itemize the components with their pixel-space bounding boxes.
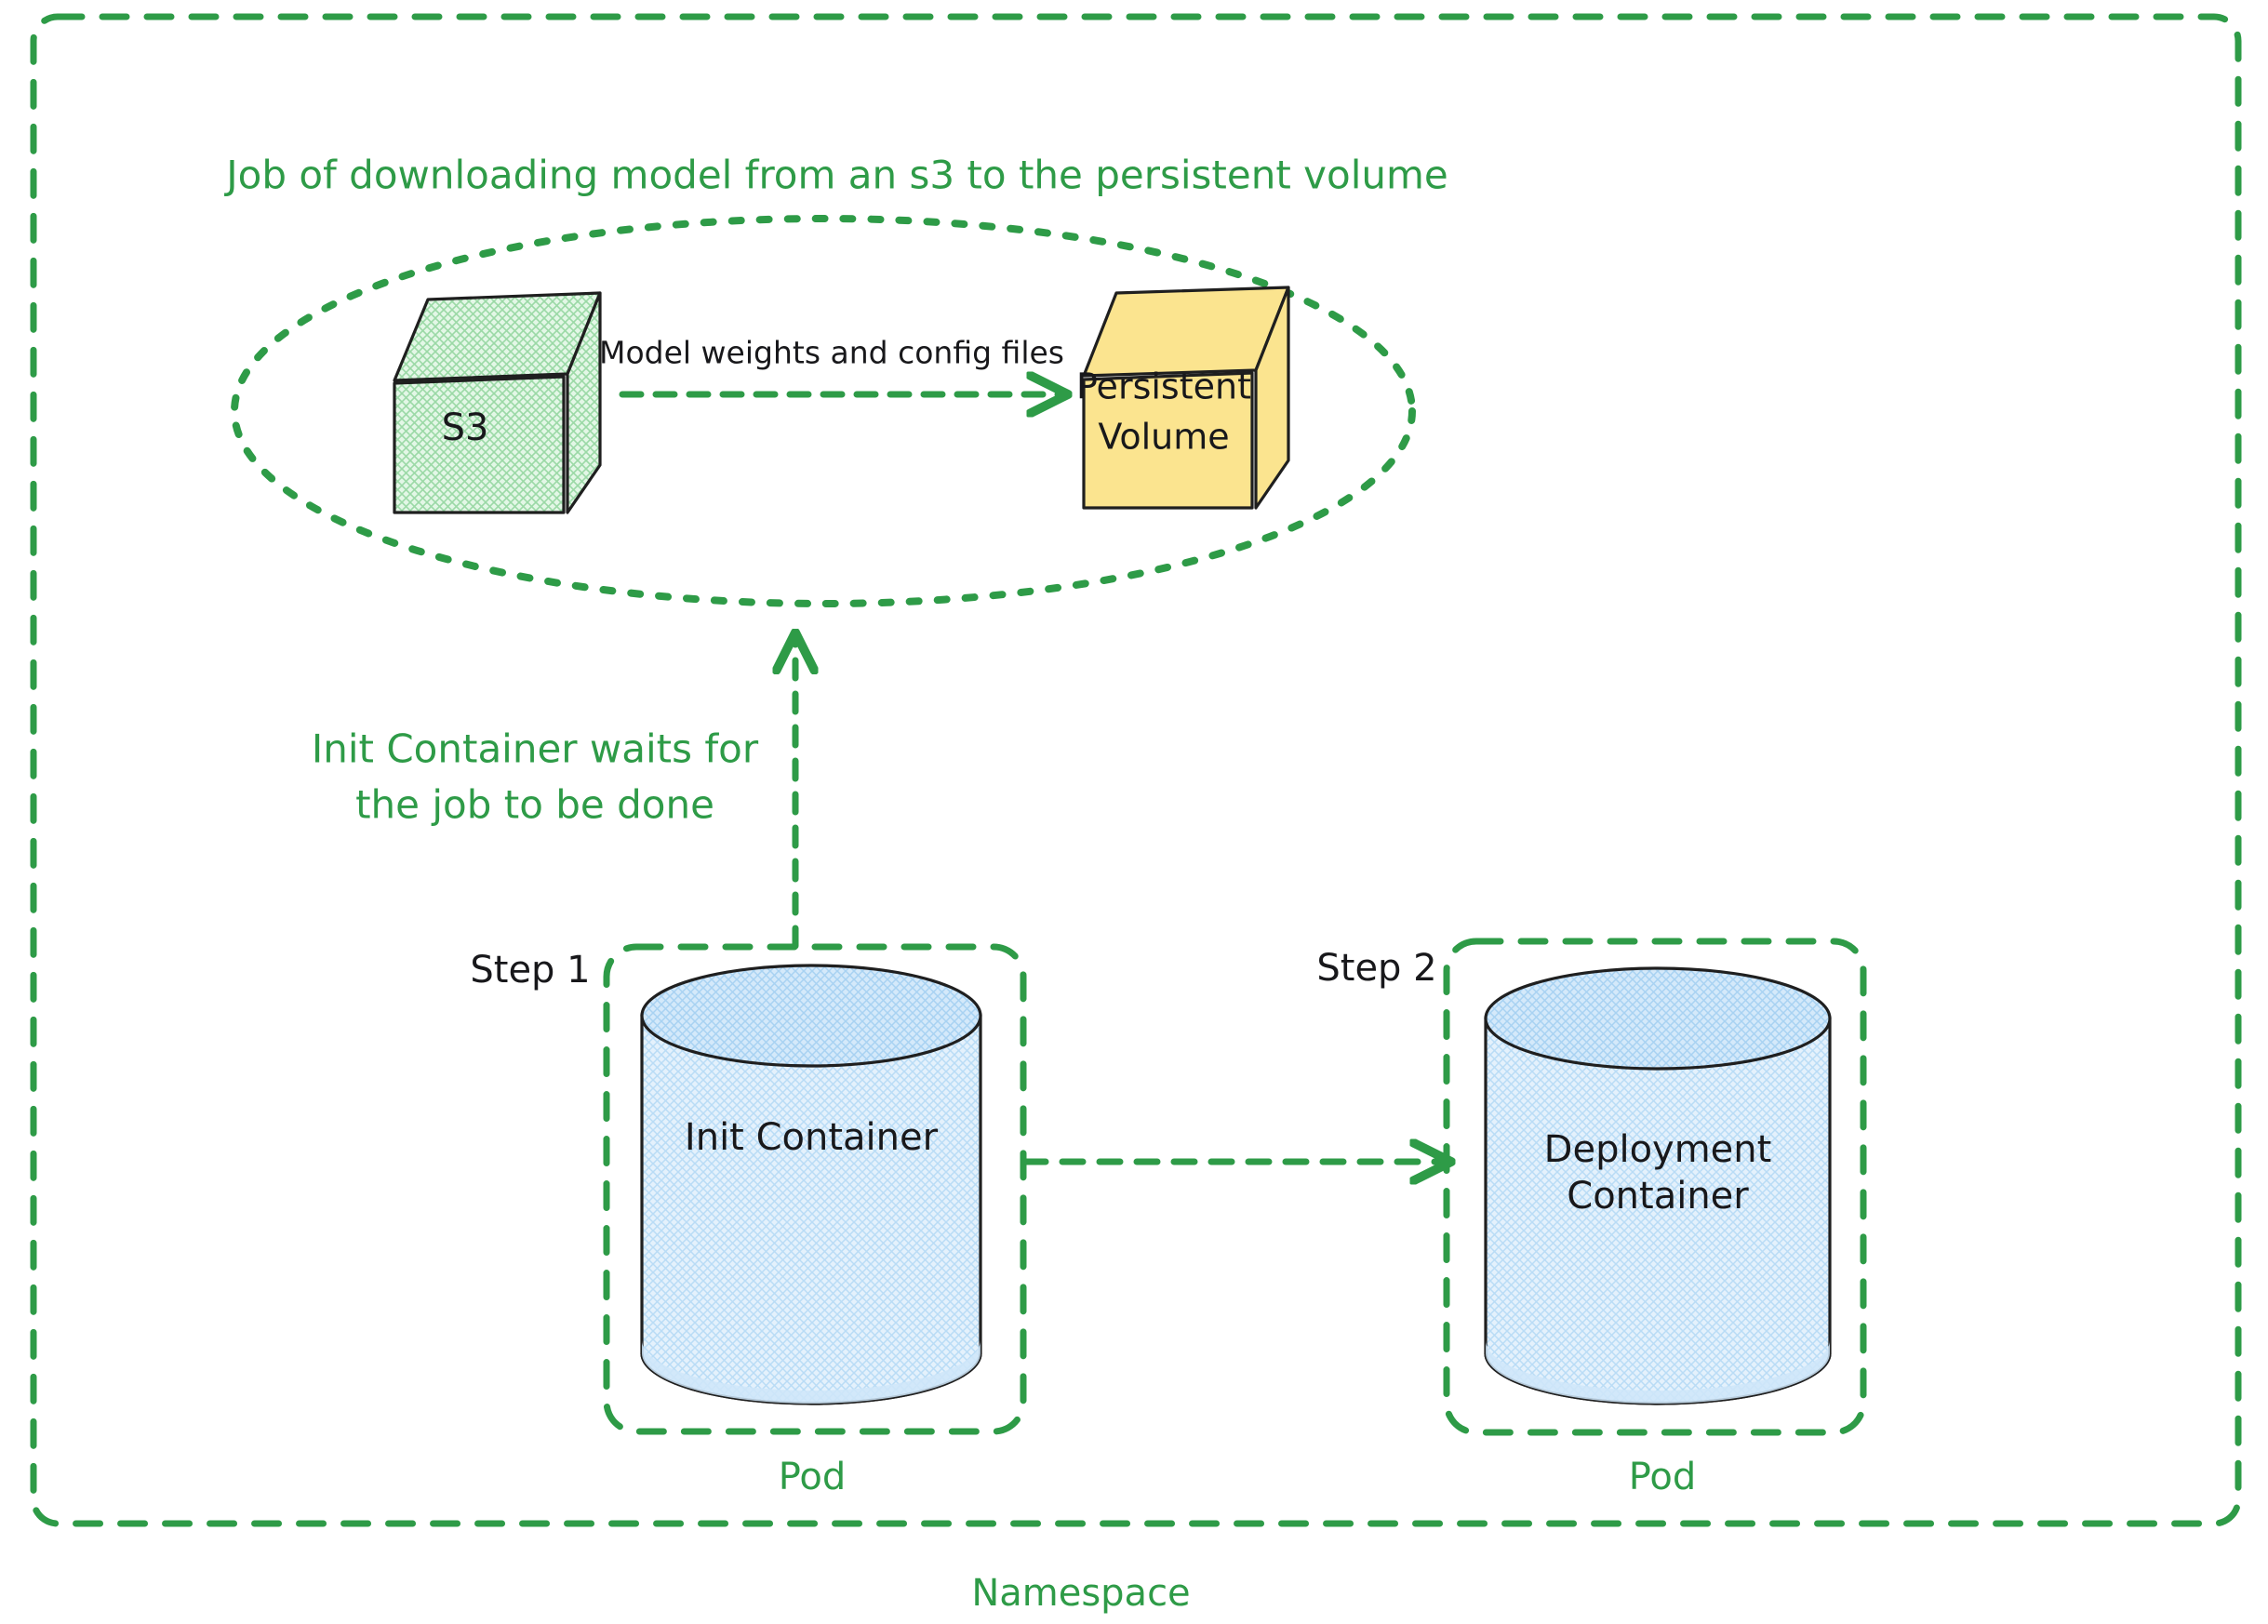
s3-cube-label: S3 bbox=[442, 406, 489, 449]
init-wait-label-line1: Init Container waits for bbox=[312, 726, 759, 772]
deployment-container-label-line1: Deployment bbox=[1544, 1128, 1772, 1171]
model-transfer-arrow-label: Model weights and config files bbox=[599, 335, 1064, 371]
s3-cube: S3 bbox=[394, 293, 600, 512]
diagram-canvas: Namespace Job of downloading model from … bbox=[0, 0, 2268, 1624]
step-2-label: Step 2 bbox=[1316, 947, 1436, 990]
namespace-label: Namespace bbox=[971, 1572, 1190, 1615]
job-group-title: Job of downloading model from an s3 to t… bbox=[223, 153, 1448, 198]
persistent-volume-label-line1: Persistent bbox=[1076, 366, 1251, 407]
diagram-svg: Namespace Job of downloading model from … bbox=[0, 0, 2268, 1624]
deployment-container-cylinder: Deployment Container bbox=[1486, 968, 1830, 1404]
step-1-label: Step 1 bbox=[470, 949, 590, 992]
init-container-label: Init Container bbox=[685, 1116, 939, 1159]
pod-1-label: Pod bbox=[779, 1456, 847, 1498]
pod-2-label: Pod bbox=[1629, 1456, 1697, 1498]
init-wait-label-line2: the job to be done bbox=[355, 782, 714, 828]
deployment-container-label-line2: Container bbox=[1567, 1175, 1749, 1218]
init-container-cylinder: Init Container bbox=[642, 965, 981, 1404]
persistent-volume-cube: Persistent Volume bbox=[1076, 287, 1288, 508]
persistent-volume-label-line2: Volume bbox=[1098, 417, 1229, 458]
